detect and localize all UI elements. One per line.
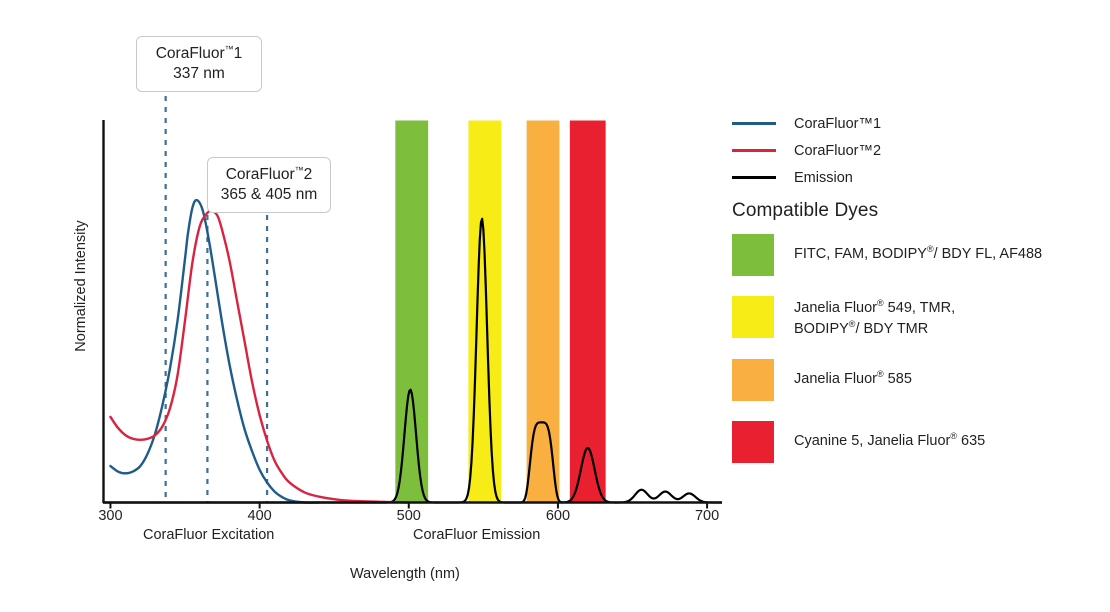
dye-band-3 <box>570 121 606 504</box>
callout-cf2-line1: CoraFluor™2 <box>220 165 318 185</box>
dye-color-swatch <box>732 359 774 401</box>
dye-band-0 <box>395 121 428 504</box>
x-tick-label-400: 400 <box>248 508 272 524</box>
dye-item-2: Janelia Fluor® 585 <box>732 359 1102 401</box>
callout-corafluor-2: CoraFluor™2 365 & 405 nm <box>207 157 331 213</box>
x-tick-label-600: 600 <box>546 508 570 524</box>
dye-item-1: Janelia Fluor® 549, TMR,BODIPY®/ BDY TMR <box>732 296 1102 339</box>
callout-corafluor-1: CoraFluor™1 337 nm <box>136 36 262 92</box>
dye-item-0: FITC, FAM, BODIPY®/ BDY FL, AF488 <box>732 234 1102 276</box>
dye-item-label: Cyanine 5, Janelia Fluor® 635 <box>794 421 985 451</box>
legend-item-emission: Emission <box>732 164 1102 191</box>
compatible-dyes-list: FITC, FAM, BODIPY®/ BDY FL, AF488Janelia… <box>732 234 1102 483</box>
legend-line-swatch-icon <box>732 122 776 125</box>
legend-item-label: CoraFluor™2 <box>794 143 881 159</box>
callout-cf2-line2: 365 & 405 nm <box>220 185 318 204</box>
trademark-symbol: ™ <box>225 44 234 54</box>
x-tick-label-300: 300 <box>98 508 122 524</box>
trademark-symbol: ™ <box>295 165 304 175</box>
corafluor-2-curve <box>110 211 408 503</box>
dye-color-swatch <box>732 234 774 276</box>
callout-cf1-line1: CoraFluor™1 <box>149 44 249 64</box>
legend-line-swatch-icon <box>732 149 776 152</box>
registered-symbol: ® <box>877 369 884 379</box>
legend-item-label: Emission <box>794 170 853 186</box>
corafluor-1-curve <box>110 200 319 503</box>
x-tick-label-700: 700 <box>695 508 719 524</box>
legend-item-corafluor-1: CoraFluor™1 <box>732 110 1102 137</box>
dye-color-swatch <box>732 296 774 338</box>
registered-symbol: ® <box>849 319 856 329</box>
registered-symbol: ® <box>927 244 934 254</box>
excitation-range-caption: CoraFluor Excitation <box>143 527 274 543</box>
emission-range-caption: CoraFluor Emission <box>413 527 540 543</box>
legend-item-label: CoraFluor™1 <box>794 116 881 132</box>
x-tick-label-500: 500 <box>397 508 421 524</box>
dye-item-label: Janelia Fluor® 549, TMR,BODIPY®/ BDY TMR <box>794 296 955 339</box>
dye-item-label: FITC, FAM, BODIPY®/ BDY FL, AF488 <box>794 234 1042 264</box>
registered-symbol: ® <box>877 298 884 308</box>
legend-item-corafluor-2: CoraFluor™2 <box>732 137 1102 164</box>
callout-cf1-line2: 337 nm <box>149 64 249 83</box>
legend-line-swatch-icon <box>732 176 776 179</box>
dye-color-swatch <box>732 421 774 463</box>
x-axis-title: Wavelength (nm) <box>350 566 460 582</box>
dye-bands <box>395 121 605 504</box>
dye-item-3: Cyanine 5, Janelia Fluor® 635 <box>732 421 1102 463</box>
y-axis-title: Normalized Intensity <box>73 196 89 376</box>
registered-symbol: ® <box>950 431 957 441</box>
compatible-dyes-heading: Compatible Dyes <box>732 200 878 222</box>
dye-item-label: Janelia Fluor® 585 <box>794 359 912 389</box>
fluorescence-spectra-chart: 300400500600700 CoraFluor Excitation Cor… <box>0 0 1110 612</box>
curve-legend: CoraFluor™1CoraFluor™2Emission <box>732 110 1102 191</box>
